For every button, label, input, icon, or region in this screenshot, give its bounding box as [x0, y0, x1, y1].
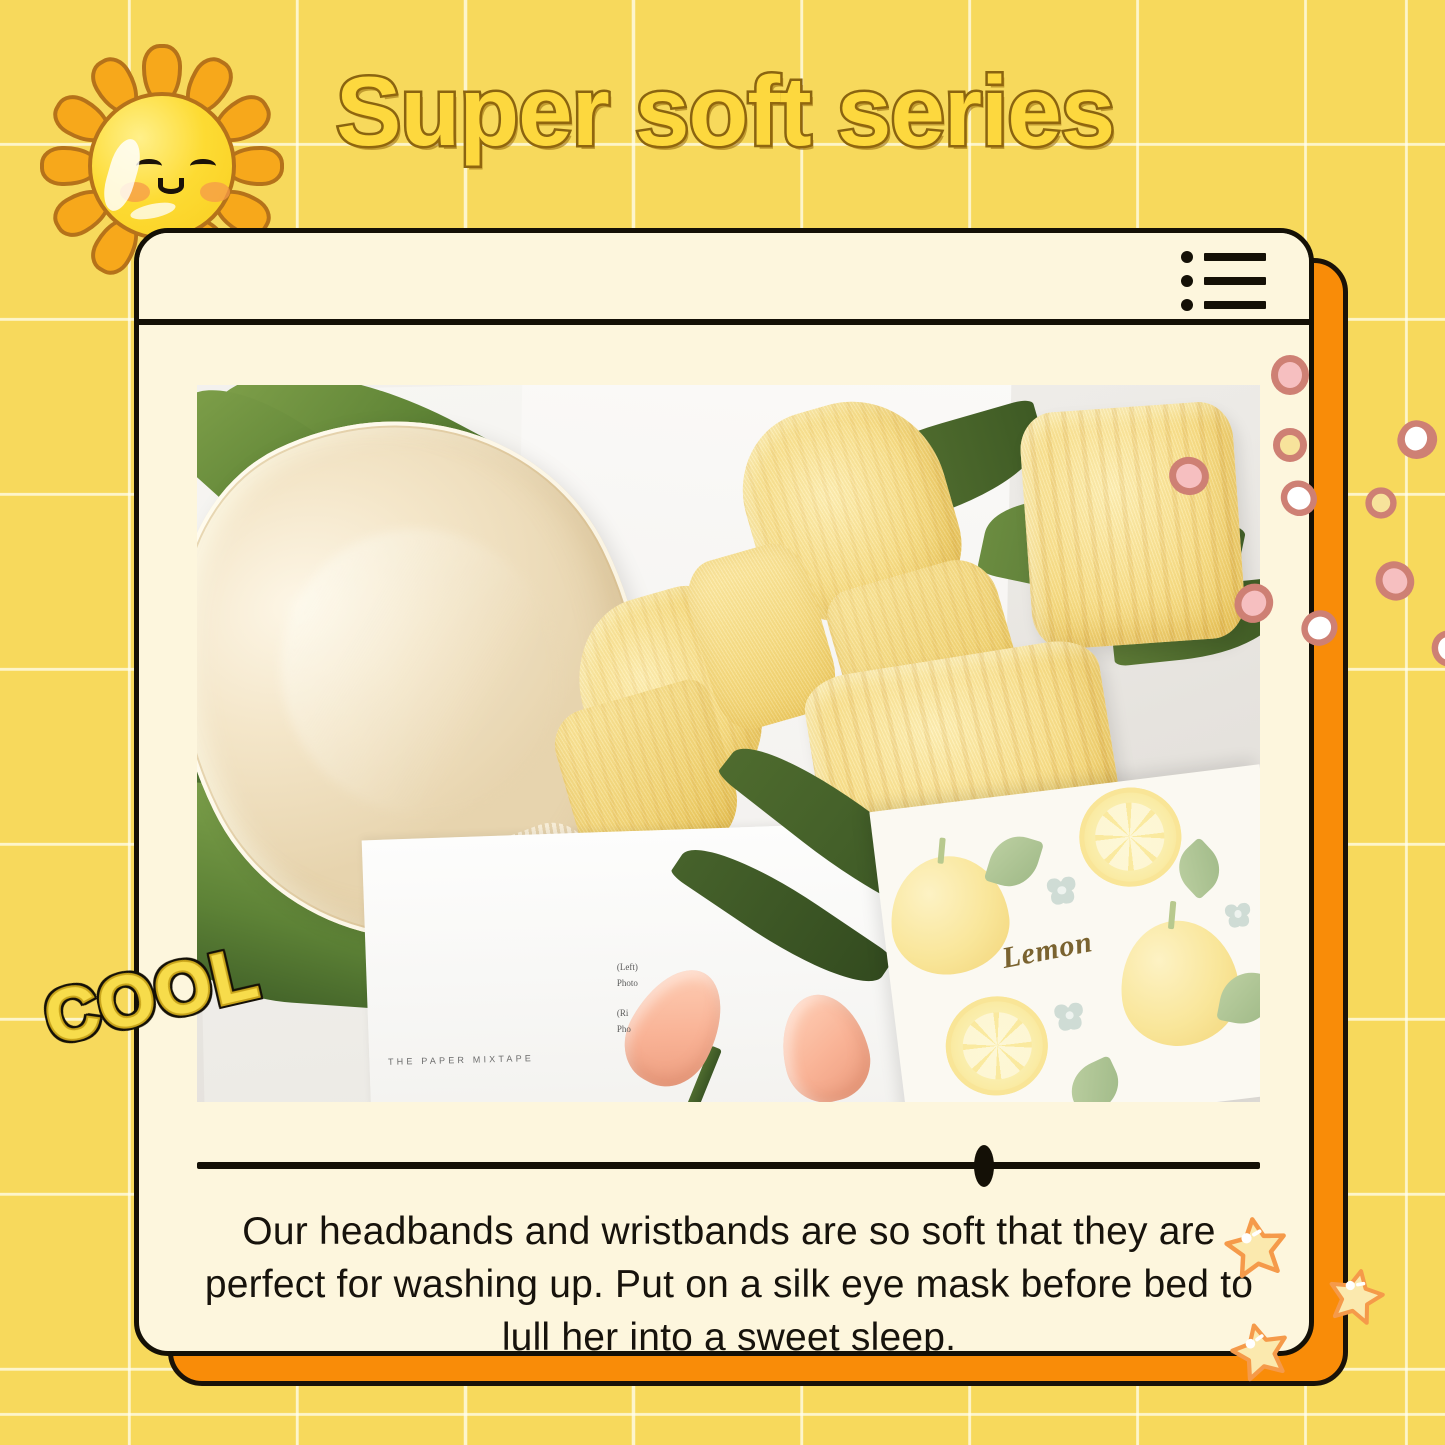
menu-line: [1204, 277, 1266, 285]
photo-small-caption-right: (Ri Pho: [617, 1005, 631, 1037]
menu-line: [1204, 301, 1266, 309]
lemon-slice-illustration: [940, 990, 1054, 1101]
flower-petal: [1271, 355, 1309, 395]
lemon-illustration: [1113, 914, 1245, 1053]
menu-line: [1204, 253, 1266, 261]
menu-bullet-icon: [1181, 251, 1193, 263]
menu-bullet-icon: [1181, 299, 1193, 311]
flower-petal: [1394, 416, 1439, 462]
page-title: Super soft series: [336, 62, 1296, 160]
menu-bullet-icon: [1181, 275, 1193, 287]
lemon-card-flower: [1060, 1006, 1079, 1025]
lemon-slice-illustration: [1073, 781, 1187, 892]
product-photo[interactable]: Lemon THE PAPER MIXTAPE (Left) Photo (Ri…: [197, 385, 1260, 1102]
sun-mouth: [158, 178, 184, 194]
flower-petal: [1368, 554, 1422, 609]
sun-eye-left: [136, 159, 162, 173]
menu-row: [1181, 251, 1267, 263]
menu-row: [1181, 299, 1267, 311]
image-carousel-slider[interactable]: [197, 1145, 1260, 1185]
flower-center: [1273, 428, 1307, 462]
card-titlebar: [139, 233, 1309, 325]
product-description: Our headbands and wristbands are so soft…: [201, 1205, 1257, 1356]
lemon-card-label: Lemon: [999, 924, 1095, 975]
slider-thumb[interactable]: [974, 1145, 994, 1187]
lemon-card: Lemon: [869, 764, 1260, 1102]
star-icon: [1322, 1261, 1391, 1330]
fluffy-wristband: [1018, 399, 1247, 650]
lemon-leaf-illustration: [1062, 1055, 1128, 1102]
flower-center: [1365, 487, 1396, 518]
lemon-card-flower: [1052, 880, 1071, 899]
browser-card: Lemon THE PAPER MIXTAPE (Left) Photo (Ri…: [134, 228, 1314, 1356]
flower-petal: [1427, 626, 1445, 672]
sun-eye-right: [190, 159, 216, 173]
list-menu-icon[interactable]: [1181, 251, 1267, 311]
slider-track[interactable]: [197, 1162, 1260, 1169]
poster-page: Super soft series: [0, 0, 1445, 1445]
photo-small-caption-left: (Left) Photo: [617, 959, 638, 991]
star-icon: [1220, 1210, 1292, 1282]
lemon-card-flower: [1230, 905, 1247, 922]
sun-cheek-right: [200, 182, 230, 202]
menu-row: [1181, 275, 1267, 287]
